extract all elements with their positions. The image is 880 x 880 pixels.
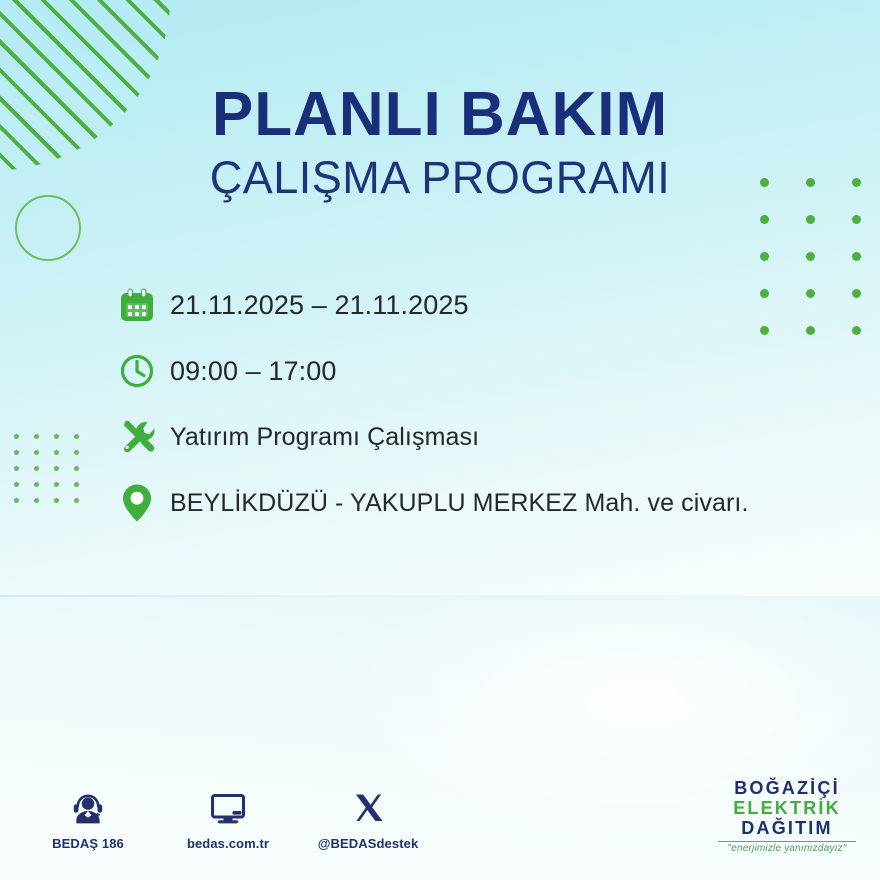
x-logo-icon — [348, 786, 388, 830]
brand-line-bogazici: BOĞAZİÇİ — [712, 778, 862, 798]
circle-outline-decoration — [15, 195, 81, 261]
support-agent-icon — [67, 786, 109, 830]
brand-line-elektrik: ELEKTRİK — [712, 798, 862, 818]
footer-label-call-center: BEDAŞ 186 — [52, 836, 124, 851]
brand-line-dagitim: DAĞITIM — [712, 818, 862, 838]
footer-item-call-center[interactable]: BEDAŞ 186 — [40, 786, 136, 851]
clock-icon — [118, 352, 170, 390]
detail-row-work-type: Yatırım Programı Çalışması — [118, 404, 858, 470]
footer-label-website: bedas.com.tr — [187, 836, 269, 851]
dot-grid-left-decoration — [14, 434, 94, 514]
detail-time-text: 09:00 – 17:00 — [170, 356, 336, 387]
background-divider — [0, 595, 880, 597]
detail-work-type-text: Yatırım Programı Çalışması — [170, 423, 479, 452]
calendar-icon — [118, 286, 170, 324]
detail-row-date: 21.11.2025 – 21.11.2025 — [118, 272, 858, 338]
brand-logo: BOĞAZİÇİ ELEKTRİK DAĞITIM "enerjimizle y… — [712, 778, 862, 854]
detail-location-text: BEYLİKDÜZÜ - YAKUPLU MERKEZ Mah. ve civa… — [170, 489, 749, 518]
footer-contact-links: BEDAŞ 186 bedas.com.tr @BEDASdestek — [40, 786, 416, 851]
tools-icon — [118, 418, 170, 456]
detail-date-text: 21.11.2025 – 21.11.2025 — [170, 290, 469, 321]
location-pin-icon — [118, 482, 170, 524]
page-title: PLANLI BAKIM ÇALIŞMA PROGRAMI — [0, 84, 880, 201]
detail-row-location: BEYLİKDÜZÜ - YAKUPLU MERKEZ Mah. ve civa… — [118, 470, 858, 536]
footer-item-website[interactable]: bedas.com.tr — [180, 786, 276, 851]
footer-label-x-account: @BEDASdestek — [318, 836, 419, 851]
detail-row-time: 09:00 – 17:00 — [118, 338, 858, 404]
monitor-icon — [207, 786, 249, 830]
planned-maintenance-poster: PLANLI BAKIM ÇALIŞMA PROGRAMI — [0, 0, 880, 880]
footer-item-x-account[interactable]: @BEDASdestek — [320, 786, 416, 851]
brand-tagline: "enerjimizle yanınızdayız" — [712, 843, 862, 854]
brand-divider — [718, 841, 856, 842]
maintenance-details-list: 21.11.2025 – 21.11.2025 09:00 – 17:00 — [118, 272, 858, 536]
page-title-line-1: PLANLI BAKIM — [0, 84, 880, 146]
page-title-line-2: ÇALIŞMA PROGRAMI — [0, 154, 880, 201]
